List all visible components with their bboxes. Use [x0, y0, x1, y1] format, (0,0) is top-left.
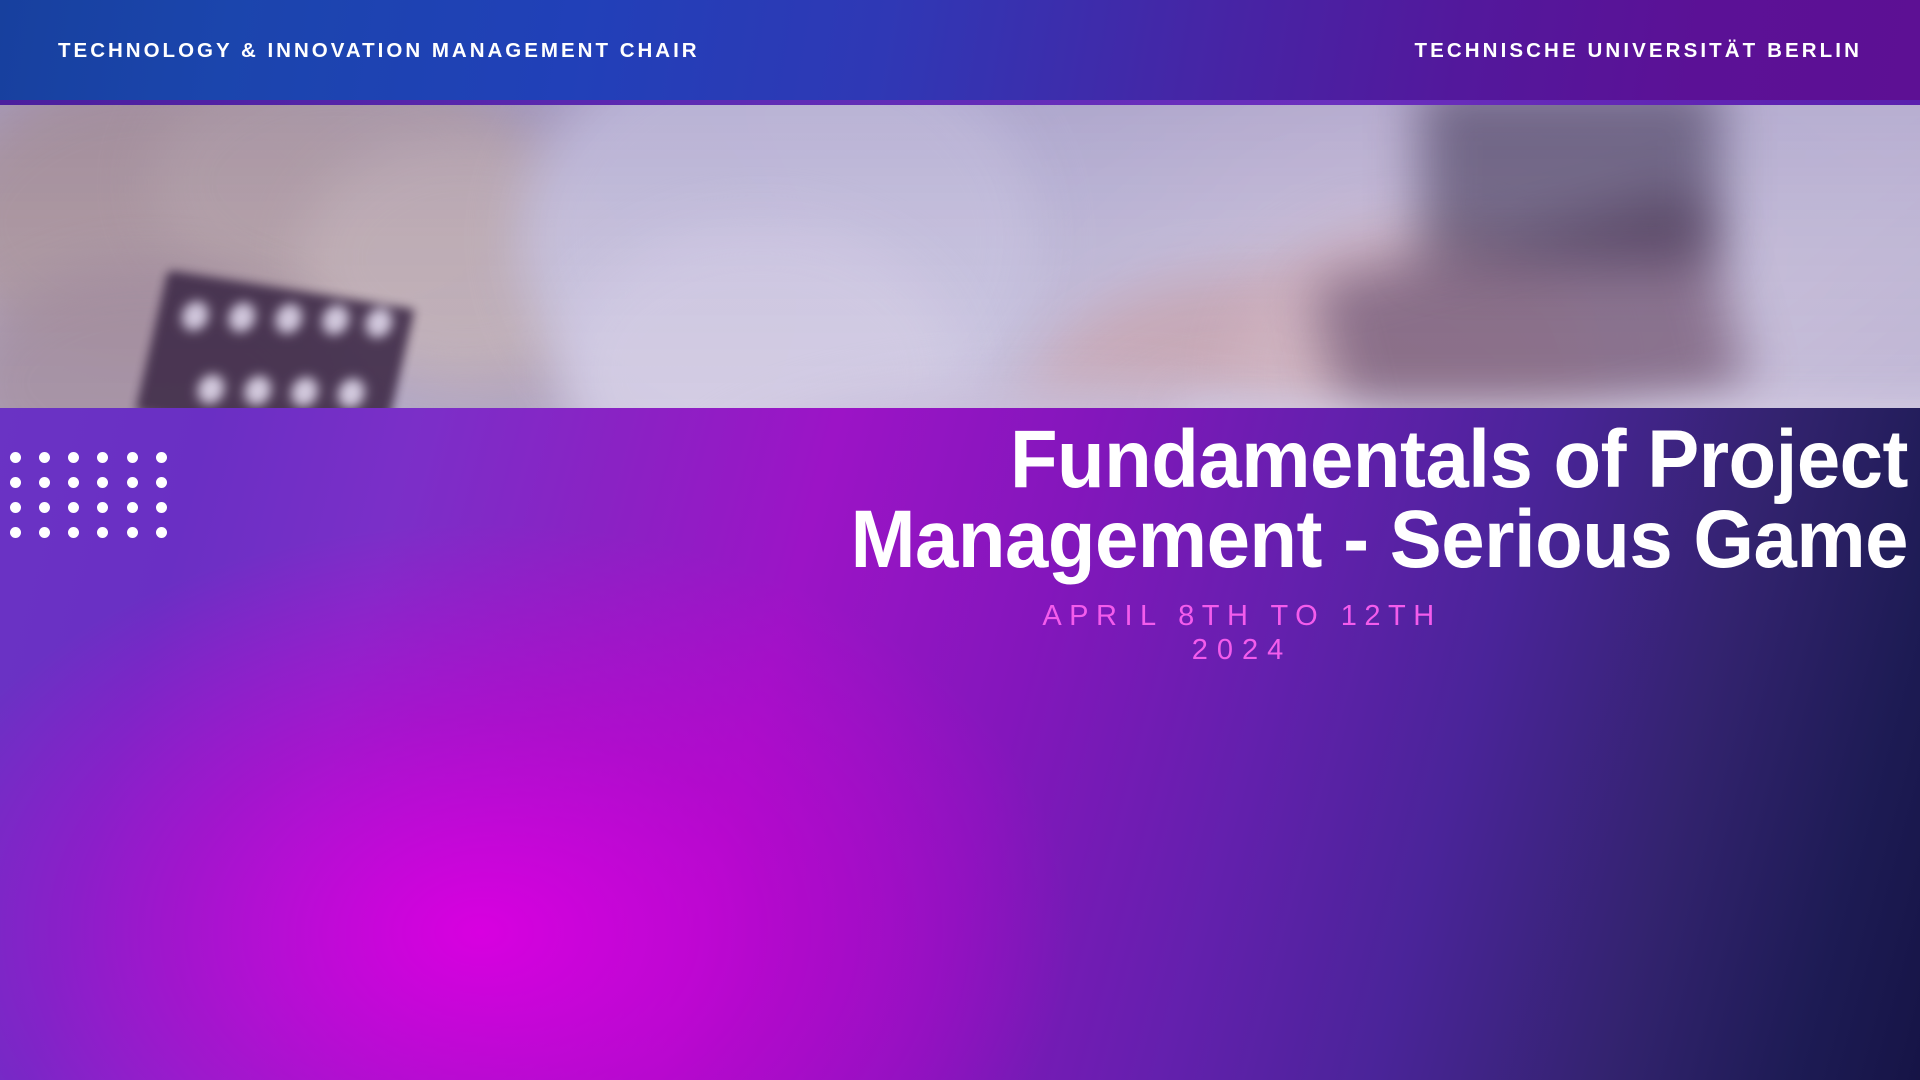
- dot: [156, 477, 167, 488]
- event-date-range: APRIL 8TH TO 12TH: [608, 599, 1876, 633]
- header-divider-rule: [0, 100, 1920, 105]
- dot: [68, 452, 79, 463]
- event-title: Fundamentals of Project Management - Ser…: [673, 420, 1908, 579]
- dot: [97, 477, 108, 488]
- dot: [127, 502, 138, 513]
- dot: [97, 452, 108, 463]
- dot: [97, 527, 108, 538]
- event-banner: TECHNOLOGY & INNOVATION MANAGEMENT CHAIR…: [0, 0, 1920, 1080]
- dot: [127, 452, 138, 463]
- dot: [39, 502, 50, 513]
- dot: [68, 477, 79, 488]
- dot: [68, 527, 79, 538]
- dot: [97, 502, 108, 513]
- dot: [39, 452, 50, 463]
- dot: [10, 502, 21, 513]
- hero-text-block: Fundamentals of Project Management - Ser…: [608, 420, 1908, 668]
- dot: [127, 527, 138, 538]
- event-year: 2024: [608, 633, 1876, 667]
- dot: [10, 477, 21, 488]
- header-bar: TECHNOLOGY & INNOVATION MANAGEMENT CHAIR…: [0, 0, 1920, 103]
- dot: [10, 527, 21, 538]
- dot: [39, 527, 50, 538]
- event-date-block: APRIL 8TH TO 12TH 2024: [608, 599, 1908, 667]
- dot-grid-decoration: [10, 452, 185, 552]
- university-name-label: TECHNISCHE UNIVERSITÄT BERLIN: [1414, 41, 1862, 62]
- dot: [156, 502, 167, 513]
- photo-blob-dark-shape: [1420, 103, 1720, 263]
- dot: [156, 452, 167, 463]
- dot: [10, 452, 21, 463]
- chair-name-label: TECHNOLOGY & INNOVATION MANAGEMENT CHAIR: [58, 41, 700, 62]
- hero-photo-band: [0, 103, 1920, 408]
- dot: [68, 502, 79, 513]
- dot: [39, 477, 50, 488]
- dot: [127, 477, 138, 488]
- dot: [156, 527, 167, 538]
